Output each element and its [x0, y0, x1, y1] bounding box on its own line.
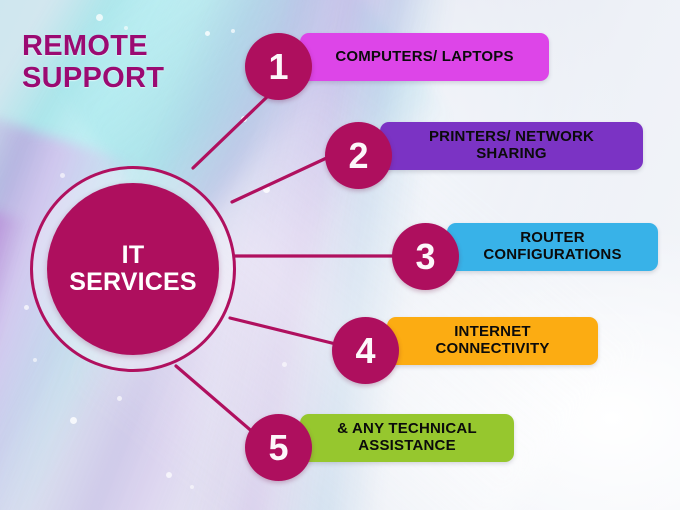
number-badge-label: 5 — [268, 430, 288, 466]
list-item[interactable]: 4 INTERNET CONNECTIVITY — [332, 317, 598, 365]
number-badge-label: 3 — [415, 239, 435, 275]
item-bar-3[interactable]: ROUTER CONFIGURATIONS — [447, 223, 658, 271]
number-badge-5: 5 — [245, 414, 312, 481]
infographic-canvas: REMOTE SUPPORT IT SERVICES 1 COMPUTERS/ … — [0, 0, 680, 510]
hub-label: IT SERVICES — [69, 242, 197, 296]
list-item[interactable]: 3 ROUTER CONFIGURATIONS — [392, 223, 658, 271]
item-bar-4[interactable]: INTERNET CONNECTIVITY — [387, 317, 598, 365]
number-badge-label: 2 — [348, 138, 368, 174]
list-item[interactable]: 2 PRINTERS/ NETWORK SHARING — [325, 122, 643, 170]
number-badge-1: 1 — [245, 33, 312, 100]
item-label-3: ROUTER CONFIGURATIONS — [483, 230, 621, 264]
connector-line-2 — [232, 155, 333, 202]
item-bar-1[interactable]: COMPUTERS/ LAPTOPS — [300, 33, 549, 81]
item-label-4: INTERNET CONNECTIVITY — [435, 324, 549, 358]
list-item[interactable]: 5 & ANY TECHNICAL ASSISTANCE — [245, 414, 514, 462]
item-bar-5[interactable]: & ANY TECHNICAL ASSISTANCE — [300, 414, 514, 462]
number-badge-4: 4 — [332, 317, 399, 384]
number-badge-label: 1 — [268, 49, 288, 85]
connector-line-1 — [193, 96, 268, 168]
number-badge-label: 4 — [355, 333, 375, 369]
item-bar-2[interactable]: PRINTERS/ NETWORK SHARING — [380, 122, 643, 170]
hub-circle[interactable]: IT SERVICES — [47, 183, 219, 355]
number-badge-2: 2 — [325, 122, 392, 189]
item-label-1: COMPUTERS/ LAPTOPS — [335, 49, 513, 66]
number-badge-3: 3 — [392, 223, 459, 290]
item-label-5: & ANY TECHNICAL ASSISTANCE — [337, 421, 477, 455]
page-title: REMOTE SUPPORT — [22, 30, 164, 95]
list-item[interactable]: 1 COMPUTERS/ LAPTOPS — [245, 33, 549, 81]
item-label-2: PRINTERS/ NETWORK SHARING — [429, 129, 594, 163]
